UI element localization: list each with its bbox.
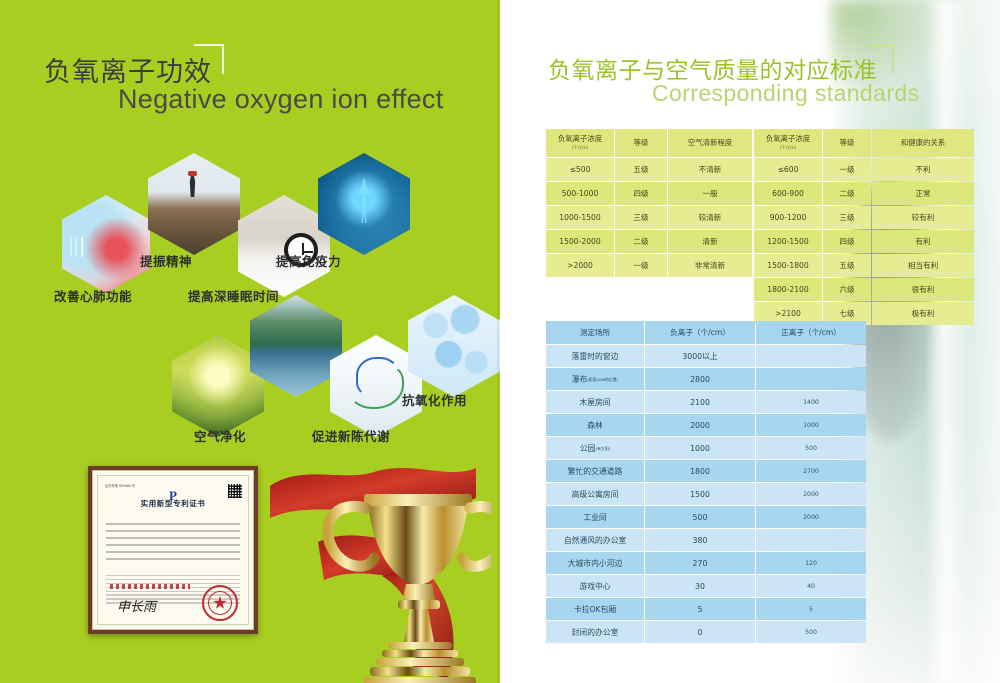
- cell-place: 游戏中心: [546, 575, 644, 597]
- qr-code-icon: [228, 484, 242, 498]
- col-header-negative-ions: 负离子（个/cm）: [645, 321, 755, 344]
- hexagon-heart-ecg-photo: [62, 195, 150, 293]
- col-header-health: 和健康的关系: [872, 129, 974, 157]
- cell-place: 卡拉OK包厢: [546, 598, 644, 620]
- table-header-row: 负氧离子浓度 (个/cm) 等级 空气清新程度: [546, 129, 752, 157]
- table-measurement-places-body: 落雷时的窗边3000以上瀑布(距离10M的位置)2800木屋房间21001400…: [546, 345, 866, 643]
- table-row: 繁忙的交通道路18002700: [546, 460, 866, 482]
- table-cell: 1800-2100: [754, 278, 822, 301]
- hexagon-label-2: 提高深睡眠时间: [188, 286, 279, 305]
- hexagon-label-4: 空气净化: [194, 426, 246, 445]
- table-row: 工业间5002000: [546, 506, 866, 528]
- waterfall-stream-decoration: [926, 0, 970, 683]
- col-header-level: 等级: [823, 129, 871, 157]
- cell-positive-ions: 5: [756, 598, 866, 620]
- certificate-inner: 证书号第 7890664 号 P 实用新型专利证书 申长雨: [92, 470, 254, 630]
- cell-positive-ions: [756, 368, 866, 390]
- hiker-silhouette-icon: [188, 175, 197, 197]
- patent-certificate: 证书号第 7890664 号 P 实用新型专利证书 申长雨: [88, 466, 258, 634]
- col-header-concentration-label: 负氧离子浓度: [558, 134, 602, 143]
- table-air-quality: 负氧离子浓度 (个/cm) 等级 空气清新程度 ≤500五级不清新500-100…: [545, 128, 753, 278]
- table-row: 1500-2000二级清新: [546, 230, 752, 253]
- table-cell: 500-1000: [546, 182, 614, 205]
- cnipa-logo-icon: P: [169, 488, 177, 504]
- table-row: 卡拉OK包厢55: [546, 598, 866, 620]
- table-row: 1200-1500四级有利: [754, 230, 974, 253]
- table-cell: 1000-1500: [546, 206, 614, 229]
- hexagon-sleeping-clock-photo: [238, 195, 330, 297]
- table-cell: 四级: [615, 182, 667, 205]
- table-row: ≤600一级不利: [754, 158, 974, 181]
- cell-place: 木屋房间: [546, 391, 644, 413]
- cell-place-annotation: (距离10M的位置): [587, 377, 618, 382]
- table-cell: 一级: [615, 254, 667, 277]
- table-cell: >2000: [546, 254, 614, 277]
- left-title-english: Negative oxygen ion effect: [118, 84, 444, 115]
- table-cell: 六级: [823, 278, 871, 301]
- cell-place: 自然通风的办公室: [546, 529, 644, 551]
- hexagon-human-body-energy-photo: [318, 153, 410, 255]
- cell-negative-ions: 380: [645, 529, 755, 551]
- certificate-signature: 申长雨: [117, 596, 156, 615]
- cell-place: 封闭的办公室: [546, 621, 644, 643]
- cell-positive-ions: 500: [756, 437, 866, 459]
- table-row: 高级公寓房间15002000: [546, 483, 866, 505]
- table-row: 1800-2100六级很有利: [754, 278, 974, 301]
- cell-positive-ions: [756, 345, 866, 367]
- certificate-stamp-line: [110, 584, 190, 589]
- table-cell: 1500-1800: [754, 254, 822, 277]
- cell-positive-ions: 1400: [756, 391, 866, 413]
- table-cell: 四级: [823, 230, 871, 253]
- cell-positive-ions: 2000: [756, 483, 866, 505]
- table-health-relation-body: ≤600一级不利600-900二级正常900-1200三级较有利1200-150…: [754, 158, 974, 325]
- col-header-concentration-label: 负氧离子浓度: [766, 134, 810, 143]
- table-row: ≤500五级不清新: [546, 158, 752, 181]
- certificate-number: 证书号第 7890664 号: [105, 483, 135, 488]
- table-row: 瀑布(距离10M的位置)2800: [546, 368, 866, 390]
- hexagon-label-1: 提振精神: [140, 251, 192, 270]
- table-cell: 相当有利: [872, 254, 974, 277]
- table-row: 森林20001000: [546, 414, 866, 436]
- cell-place: 大城市内小河边: [546, 552, 644, 574]
- hexagon-label-0: 改善心肺功能: [54, 286, 132, 305]
- hexagon-label-3: 提高免疫力: [276, 251, 341, 270]
- cell-positive-ions: 1000: [756, 414, 866, 436]
- cell-place: 公园(有太阳): [546, 437, 644, 459]
- table-row: 木屋房间21001400: [546, 391, 866, 413]
- hexagon-mountain-hiker-photo: [148, 153, 240, 255]
- table-row: 1500-1800五级相当有利: [754, 254, 974, 277]
- table-cell: 一级: [823, 158, 871, 181]
- table-row: 600-900二级正常: [754, 182, 974, 205]
- table-measurement-places: 测定场所 负离子（个/cm） 正离子（个/cm） 落雷时的窗边3000以上瀑布(…: [545, 320, 867, 644]
- table-cell: 清新: [668, 230, 752, 253]
- table-cell: 五级: [615, 158, 667, 181]
- col-header-concentration-unit: (个/cm): [756, 146, 820, 153]
- cell-negative-ions: 3000以上: [645, 345, 755, 367]
- table-cell: 一般: [668, 182, 752, 205]
- table-cell: 极有利: [872, 302, 974, 325]
- table-row: 500-1000四级一般: [546, 182, 752, 205]
- table-row: 900-1200三级较有利: [754, 206, 974, 229]
- official-red-seal-icon: [202, 585, 238, 621]
- col-header-concentration: 负氧离子浓度 (个/cm): [754, 129, 822, 157]
- table-cell: 很有利: [872, 278, 974, 301]
- cell-negative-ions: 270: [645, 552, 755, 574]
- table-row: 公园(有太阳)1000500: [546, 437, 866, 459]
- cell-place: 繁忙的交通道路: [546, 460, 644, 482]
- table-cell: 有利: [872, 230, 974, 253]
- certificate-field-lines: [106, 523, 240, 566]
- left-title-bracket-decoration: [194, 44, 224, 74]
- table-cell: 1200-1500: [754, 230, 822, 253]
- table-cell: 900-1200: [754, 206, 822, 229]
- cell-positive-ions: [756, 529, 866, 551]
- col-header-freshness: 空气清新程度: [668, 129, 752, 157]
- right-title-english: Corresponding standards: [652, 80, 919, 107]
- table-cell: ≤500: [546, 158, 614, 181]
- cell-place: 森林: [546, 414, 644, 436]
- cell-positive-ions: 2700: [756, 460, 866, 482]
- right-title-bracket-decoration: [868, 45, 894, 73]
- table-row: 封闭的办公室0500: [546, 621, 866, 643]
- table-cell: 较清新: [668, 206, 752, 229]
- hexagon-label-5: 促进新陈代谢: [312, 426, 390, 445]
- table-air-quality-head: 负氧离子浓度 (个/cm) 等级 空气清新程度: [546, 129, 752, 157]
- table-row: 大城市内小河边270120: [546, 552, 866, 574]
- cell-negative-ions: 0: [645, 621, 755, 643]
- table-cell: 600-900: [754, 182, 822, 205]
- ecg-line-icon: [68, 237, 130, 257]
- table-row: 游戏中心3040: [546, 575, 866, 597]
- cell-negative-ions: 2800: [645, 368, 755, 390]
- brochure-spread: 负氧离子功效 Negative oxygen ion effect: [0, 0, 1000, 683]
- col-header-level: 等级: [615, 129, 667, 157]
- table-row: 自然通风的办公室380: [546, 529, 866, 551]
- table-health-relation-head: 负氧离子浓度 (个/cm) 等级 和健康的关系: [754, 129, 974, 157]
- table-cell: 正常: [872, 182, 974, 205]
- cell-negative-ions: 2100: [645, 391, 755, 413]
- cell-positive-ions: 500: [756, 621, 866, 643]
- human-body-silhouette-icon: [359, 179, 369, 223]
- cell-negative-ions: 1800: [645, 460, 755, 482]
- cell-positive-ions: 120: [756, 552, 866, 574]
- table-row: >2000一级非常清新: [546, 254, 752, 277]
- table-cell: 不清新: [668, 158, 752, 181]
- table-header-row: 负氧离子浓度 (个/cm) 等级 和健康的关系: [754, 129, 974, 157]
- cell-negative-ions: 500: [645, 506, 755, 528]
- cell-negative-ions: 5: [645, 598, 755, 620]
- table-cell: 二级: [615, 230, 667, 253]
- cell-positive-ions: 40: [756, 575, 866, 597]
- cell-place: 瀑布(距离10M的位置): [546, 368, 644, 390]
- table-cell: 三级: [823, 206, 871, 229]
- table-header-row: 测定场所 负离子（个/cm） 正离子（个/cm）: [546, 321, 866, 344]
- cell-negative-ions: 1500: [645, 483, 755, 505]
- cell-place: 工业间: [546, 506, 644, 528]
- col-header-positive-ions: 正离子（个/cm）: [756, 321, 866, 344]
- table-cell: 三级: [615, 206, 667, 229]
- table-cell: 较有利: [872, 206, 974, 229]
- left-page: 负氧离子功效 Negative oxygen ion effect: [0, 0, 500, 683]
- cell-negative-ions: 30: [645, 575, 755, 597]
- cell-negative-ions: 2000: [645, 414, 755, 436]
- cell-place-annotation: (有太阳): [595, 446, 610, 451]
- table-cell: 五级: [823, 254, 871, 277]
- cell-place: 高级公寓房间: [546, 483, 644, 505]
- table-measurement-places-head: 测定场所 负离子（个/cm） 正离子（个/cm）: [546, 321, 866, 344]
- col-header-concentration: 负氧离子浓度 (个/cm): [546, 129, 614, 157]
- cell-positive-ions: 2000: [756, 506, 866, 528]
- cell-place: 落雷时的窗边: [546, 345, 644, 367]
- table-health-relation: 负氧离子浓度 (个/cm) 等级 和健康的关系 ≤600一级不利600-900二…: [753, 128, 975, 326]
- table-cell: 非常清新: [668, 254, 752, 277]
- col-header-place: 测定场所: [546, 321, 644, 344]
- trophy-svg: [262, 446, 492, 683]
- hexagon-label-6: 抗氧化作用: [402, 390, 467, 409]
- table-row: 落雷时的窗边3000以上: [546, 345, 866, 367]
- gold-trophy-icon: [262, 446, 492, 683]
- hiker-hat-icon: [188, 171, 197, 176]
- table-cell: 不利: [872, 158, 974, 181]
- table-row: 1000-1500三级较清新: [546, 206, 752, 229]
- table-cell: 1500-2000: [546, 230, 614, 253]
- table-cell: 二级: [823, 182, 871, 205]
- cell-negative-ions: 1000: [645, 437, 755, 459]
- col-header-concentration-unit: (个/cm): [548, 146, 612, 153]
- table-cell: ≤600: [754, 158, 822, 181]
- table-air-quality-body: ≤500五级不清新500-1000四级一般1000-1500三级较清新1500-…: [546, 158, 752, 277]
